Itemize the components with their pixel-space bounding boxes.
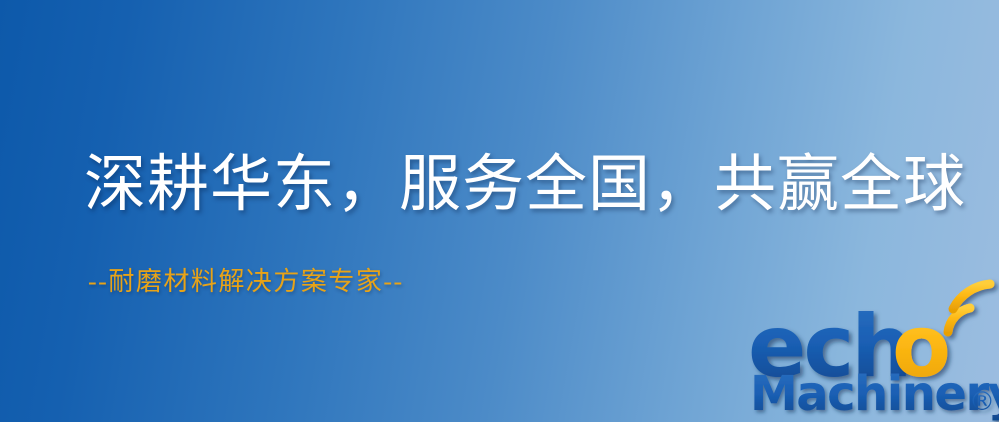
logo-tagline-text: Machinery bbox=[750, 366, 999, 422]
logo-tagline: Machinery ® bbox=[750, 364, 999, 422]
registered-trademark-icon: ® bbox=[969, 387, 995, 417]
wifi-signal-icon bbox=[948, 284, 990, 332]
page-title: 深耕华东，服务全国，共赢全球 bbox=[84, 152, 966, 219]
company-logo: ech o bbox=[748, 292, 999, 422]
logo-tagline-svg: Machinery ® bbox=[750, 364, 999, 422]
promo-banner: 深耕华东，服务全国，共赢全球 --耐磨材料解决方案专家-- bbox=[0, 0, 999, 422]
page-subtitle: --耐磨材料解决方案专家-- bbox=[88, 268, 404, 297]
